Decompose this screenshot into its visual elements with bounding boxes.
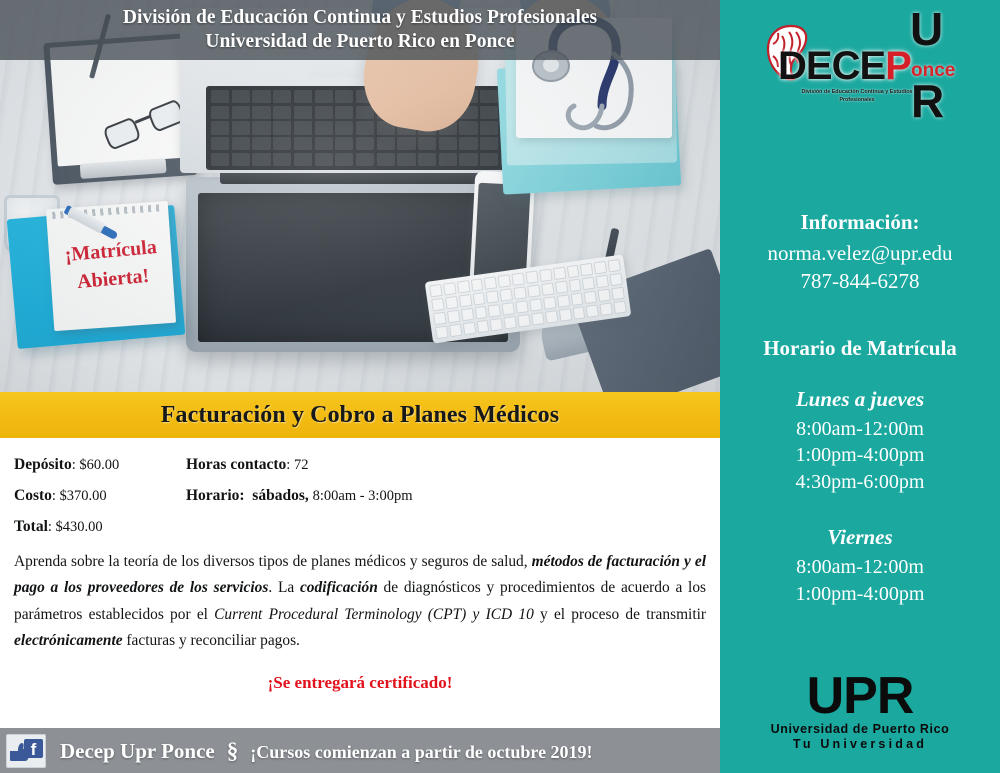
schedule-heading: Horario de Matrícula [720, 336, 1000, 361]
course-description: Aprenda sobre la teoría de los diversos … [14, 549, 706, 655]
upr-name: Universidad de Puerto Rico [720, 722, 1000, 736]
course-body: Depósito: $60.00 Horas contacto: 72 Cost… [0, 438, 720, 693]
upr-logo: UPR Universidad de Puerto Rico Tu Univer… [720, 672, 1000, 751]
decep-subtitle: División de Educación Continua y Estudio… [798, 88, 916, 104]
horas-value: : 72 [286, 457, 308, 473]
horas-cell: Horas contacto: 72 [186, 456, 308, 474]
facebook-like-icon[interactable]: f [6, 734, 46, 768]
contact-email[interactable]: norma.velez@upr.edu [720, 241, 1000, 266]
footer-bar: f Decep Upr Ponce § ¡Cursos comienzan a … [0, 728, 720, 773]
contact-info: Información: norma.velez@upr.edu 787-844… [720, 210, 1000, 294]
header-banner: División de Educación Continua y Estudio… [0, 0, 720, 60]
left-column: ¡Matrícula Abierta! División de Educació… [0, 0, 720, 773]
desc-emphasis-2: codificación [300, 579, 378, 596]
upr-u-letter: U [910, 6, 943, 52]
facebook-page-name[interactable]: Decep Upr Ponce [60, 739, 215, 764]
total-label: Total [14, 518, 48, 535]
right-sidebar: DECEP once U R División de Educación Con… [720, 0, 1000, 773]
course-start-note: ¡Cursos comienzan a partir de octubre 20… [250, 742, 592, 763]
schedule-day-weekdays: Lunes a jueves [720, 387, 1000, 412]
total-cell: Total: $430.00 [14, 518, 186, 536]
upr-tagline: Tu Universidad [720, 737, 1000, 751]
certificate-note: ¡Se entregará certificado! [0, 673, 720, 693]
desc-seg-7: facturas y reconciliar pagos. [123, 632, 300, 649]
horario-label: Horario: [186, 487, 245, 504]
total-value: : $430.00 [48, 519, 103, 535]
upr-acronym: UPR [720, 672, 1000, 721]
desc-seg-6: y el proceso de transmitir [534, 606, 706, 623]
detail-row-costo: Costo: $370.00 Horario: sábados, 8:00am … [14, 487, 720, 505]
decep-wordmark: DECEP [778, 44, 911, 89]
horario-cell: Horario: sábados, 8:00am - 3:00pm [186, 487, 413, 505]
detail-row-deposito: Depósito: $60.00 Horas contacto: 72 [14, 456, 720, 474]
hero-photo: ¡Matrícula Abierta! División de Educació… [0, 0, 720, 392]
schedule-time-2: 1:00pm-4:00pm [720, 442, 1000, 468]
costo-cell: Costo: $370.00 [14, 487, 186, 505]
desc-seg-2: . La [268, 579, 300, 596]
schedule-time-3: 4:30pm-6:00pm [720, 469, 1000, 495]
header-line-1: División de Educación Continua y Estudio… [123, 6, 597, 30]
contact-phone[interactable]: 787-844-6278 [720, 269, 1000, 294]
decep-p: P [885, 44, 911, 88]
deposito-cell: Depósito: $60.00 [14, 456, 186, 474]
page-title: Facturación y Cobro a Planes Médicos [161, 402, 559, 429]
deposito-label: Depósito [14, 456, 72, 473]
desc-italic-icd: ICD 10 [486, 606, 534, 623]
decep-text: DECE [778, 44, 885, 88]
header-line-2: Universidad de Puerto Rico en Ponce [205, 30, 514, 54]
footer-text: Decep Upr Ponce § ¡Cursos comienzan a pa… [46, 738, 593, 764]
horario-time: 8:00am - 3:00pm [313, 488, 413, 504]
schedule-day-friday: Viernes [720, 525, 1000, 550]
schedule-time-1: 8:00am-12:00m [720, 416, 1000, 442]
flyer-page: ¡Matrícula Abierta! División de Educació… [0, 0, 1000, 773]
costo-label: Costo [14, 487, 52, 504]
costo-value: : $370.00 [52, 488, 107, 504]
schedule-time-5: 1:00pm-4:00pm [720, 581, 1000, 607]
contact-label: Información: [720, 210, 1000, 235]
enrollment-schedule: Horario de Matrícula Lunes a jueves 8:00… [720, 336, 1000, 607]
desc-seg-1: Aprenda sobre la teoría de los diversos … [14, 553, 532, 570]
course-details: Depósito: $60.00 Horas contacto: 72 Cost… [0, 438, 720, 536]
deposito-value: : $60.00 [72, 457, 120, 473]
svg-text:f: f [31, 740, 37, 759]
footer-separator: § [215, 738, 251, 764]
desc-italic-cpt: Current Procedural Terminology (CPT) [214, 606, 466, 623]
desc-emphasis-3: electrónicamente [14, 632, 123, 649]
horas-label: Horas contacto [186, 456, 286, 473]
decep-logo: DECEP once U R División de Educación Con… [720, 0, 1000, 140]
horario-day: sábados, [252, 487, 308, 504]
detail-row-total: Total: $430.00 [14, 518, 720, 536]
course-title-bar: Facturación y Cobro a Planes Médicos [0, 392, 720, 438]
schedule-time-4: 8:00am-12:00m [720, 554, 1000, 580]
